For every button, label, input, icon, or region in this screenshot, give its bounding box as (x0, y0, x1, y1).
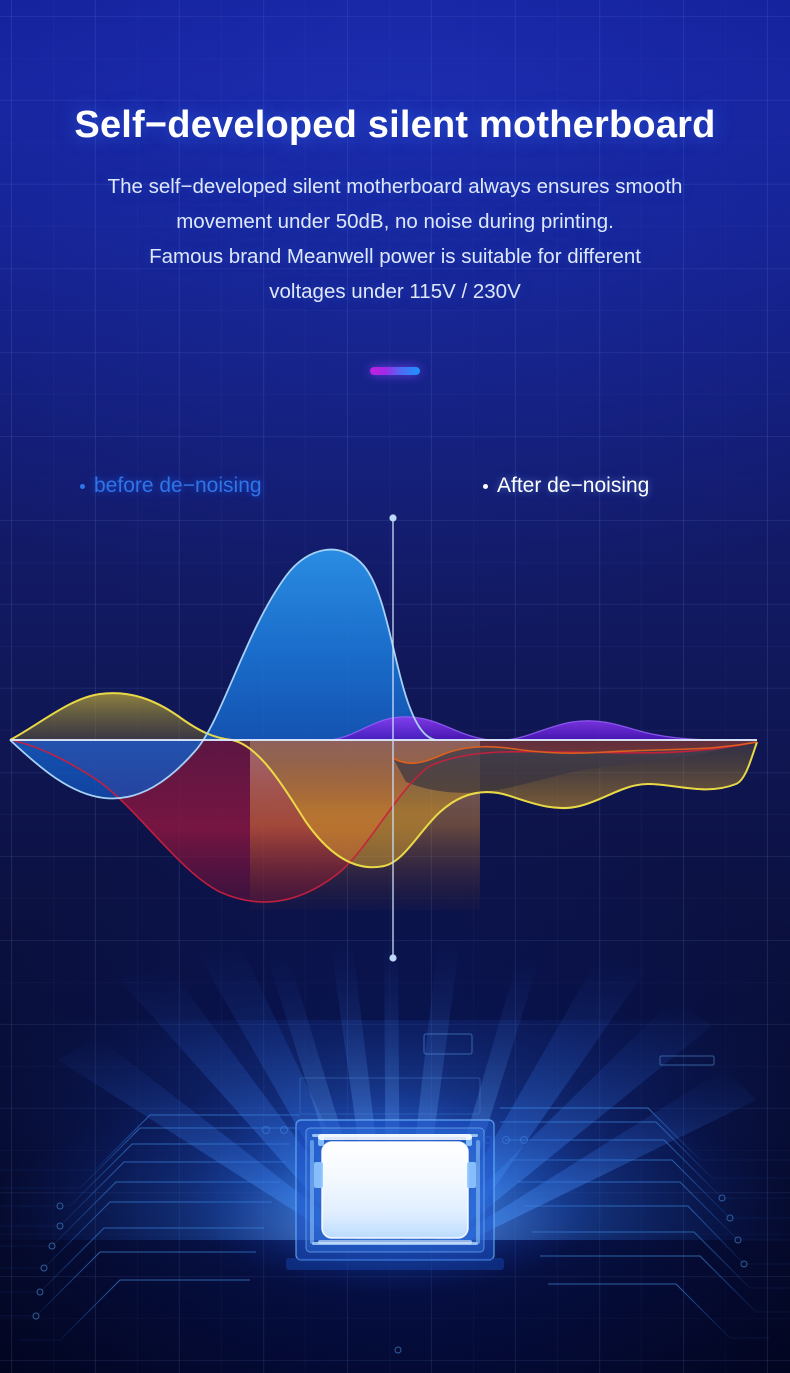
legend-bullet-icon (483, 484, 488, 489)
legend-label-before: before de−noising (94, 474, 262, 498)
legend-label-after: After de−noising (497, 474, 649, 498)
wave-yellow-before-up (10, 693, 232, 740)
legend-bullet-icon (80, 484, 85, 489)
section-divider-pill (370, 367, 420, 375)
subtitle-line-3: Famous brand Meanwell power is suitable … (0, 239, 790, 274)
header-block: Self−developed silent motherboard The se… (0, 104, 790, 309)
legend-item-after: After de−noising (483, 474, 649, 498)
cpu-chip-graphic (0, 1090, 790, 1290)
legend-item-before: before de−noising (80, 474, 262, 498)
chart-divider-dot-bottom (389, 954, 396, 961)
chart-legend: before de−noising After de−noising (0, 474, 790, 506)
waveform-svg (0, 500, 790, 980)
circuit-board-graphic (0, 1020, 790, 1373)
light-rays-graphic (0, 940, 790, 1240)
page-subtitle: The self−developed silent motherboard al… (0, 169, 790, 309)
wave-purple-after (330, 717, 757, 741)
waveform-chart (0, 500, 790, 980)
chart-divider-dot-top (389, 514, 396, 521)
subtitle-line-1: The self−developed silent motherboard al… (0, 169, 790, 204)
promo-banner: Self−developed silent motherboard The se… (0, 0, 790, 1373)
page-title: Self−developed silent motherboard (0, 104, 790, 147)
subtitle-line-2: movement under 50dB, no noise during pri… (0, 204, 790, 239)
subtitle-line-4: voltages under 115V / 230V (0, 274, 790, 309)
